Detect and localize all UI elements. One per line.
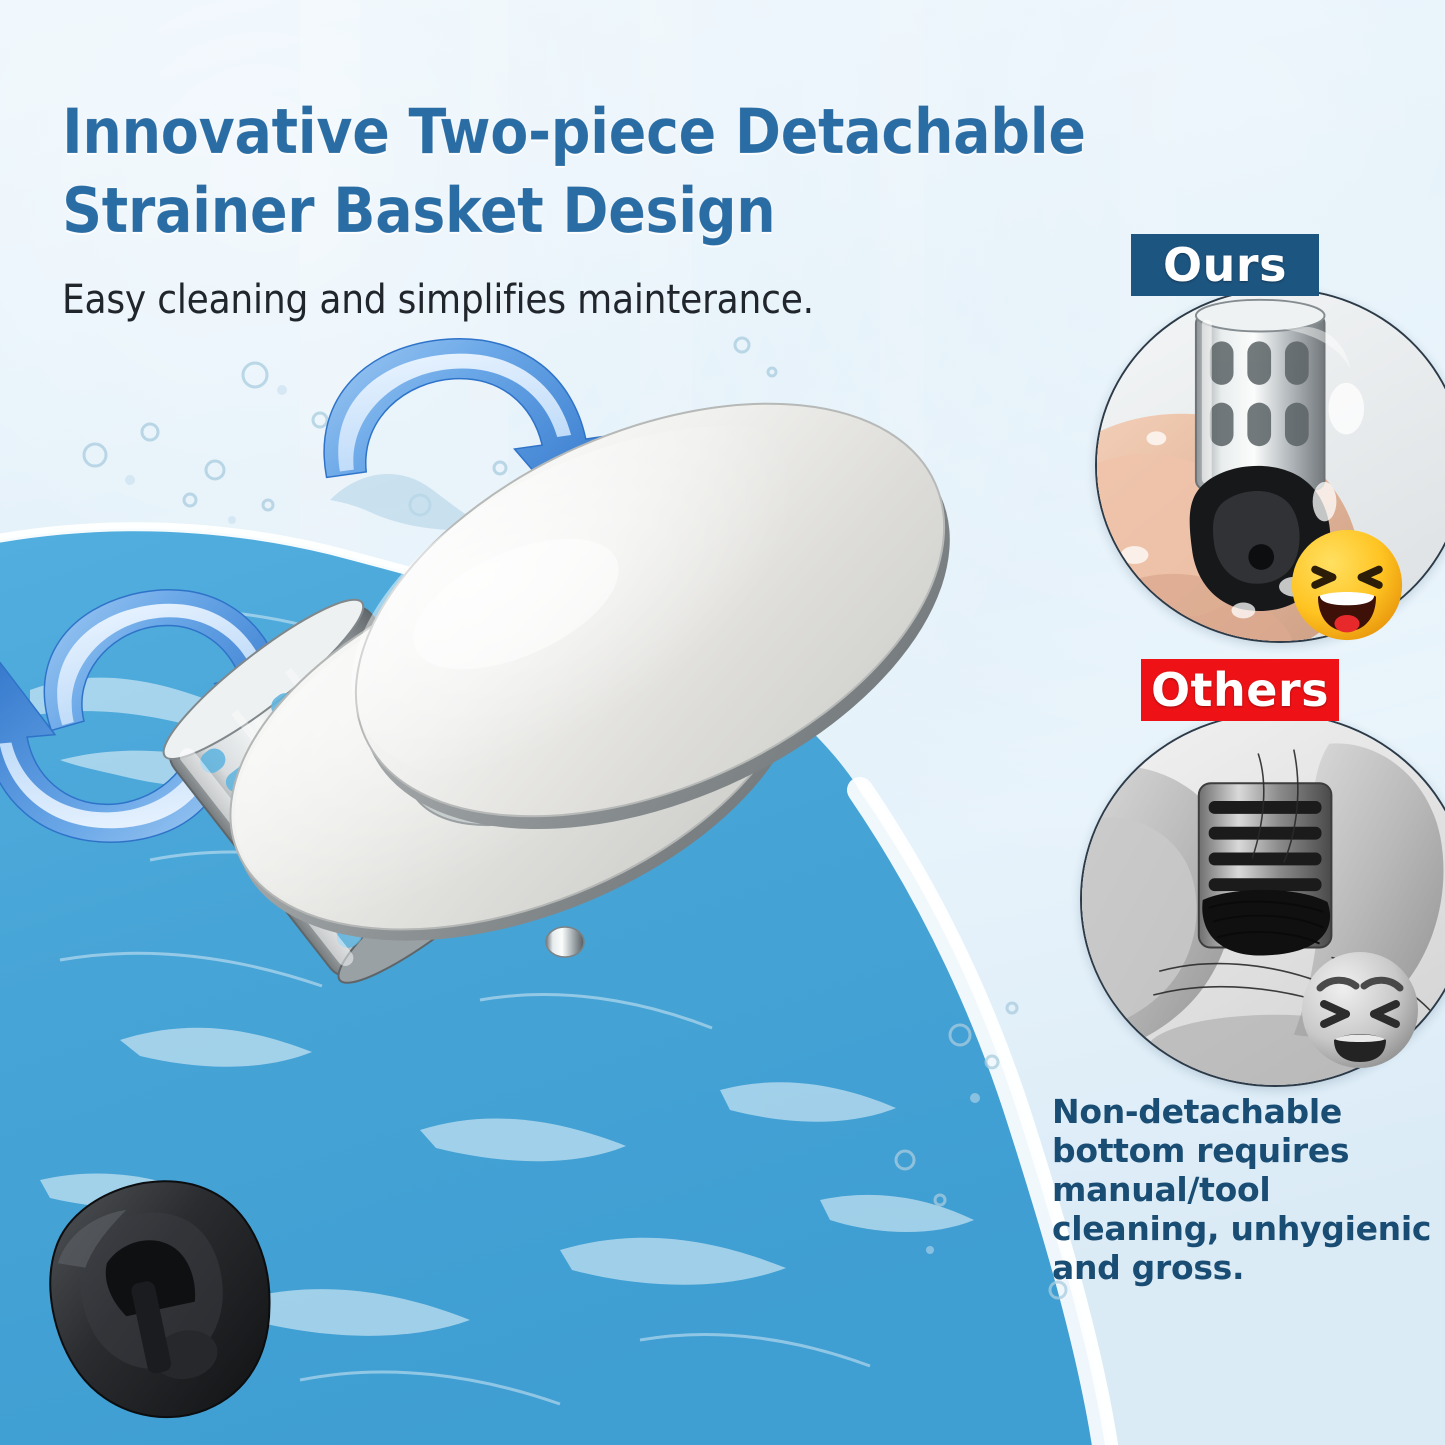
- product-infographic: Innovative Two-piece Detachable Strainer…: [0, 0, 1445, 1445]
- shaft-pin: [546, 927, 584, 957]
- weary-face-emoji: [1298, 948, 1422, 1072]
- title-line-1: Innovative Two-piece Detachable: [62, 95, 1086, 168]
- ours-badge: Ours: [1131, 234, 1319, 296]
- weary-face-emoji-svg: [1298, 948, 1422, 1072]
- page-title: Innovative Two-piece Detachable Strainer…: [62, 92, 1182, 251]
- product-exploded-illustration: [0, 330, 1090, 1445]
- page-subtitle: Easy cleaning and simplifies mainterance…: [62, 277, 1182, 323]
- others-badge: Others: [1141, 659, 1339, 721]
- title-line-2: Strainer Basket Design: [62, 174, 775, 247]
- laughing-face-emoji-svg: [1289, 527, 1405, 643]
- product-svg: [0, 330, 1090, 1445]
- others-caption: Non-detachable bottom requires manual/to…: [1052, 1093, 1442, 1288]
- laughing-face-emoji: [1289, 527, 1405, 643]
- black-base-cage: [31, 1162, 293, 1438]
- headline-block: Innovative Two-piece Detachable Strainer…: [62, 92, 1182, 323]
